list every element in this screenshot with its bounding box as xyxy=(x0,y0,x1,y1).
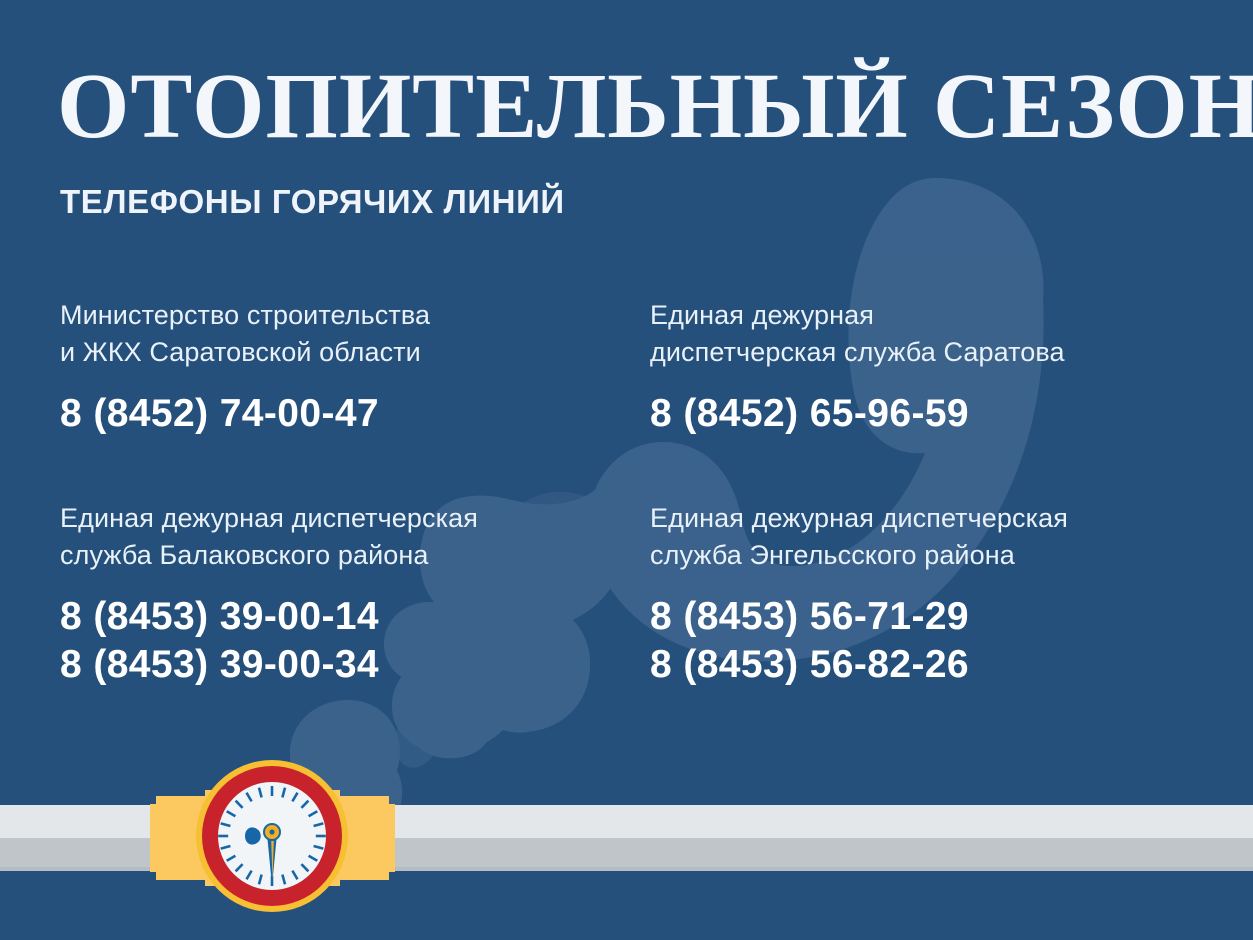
page-title: ОТОПИТЕЛЬНЫЙ СЕЗОН xyxy=(57,60,1253,153)
contact-phone-list: 8 (8452) 65-96-59 xyxy=(650,390,1240,438)
contact-org-name: Единая дежурная диспетчерская служба Бал… xyxy=(60,500,640,574)
contact-phone-list: 8 (8452) 74-00-47 xyxy=(60,390,640,438)
meter-hub-center xyxy=(269,829,274,834)
phone-number[interactable]: 8 (8453) 56-82-26 xyxy=(650,641,1240,689)
contact-org-name: Единая дежурная диспетчерская служба Сар… xyxy=(650,297,1240,371)
phone-number[interactable]: 8 (8452) 65-96-59 xyxy=(650,390,1240,438)
contact-org-line: Министерство строительства xyxy=(60,297,640,334)
page-subtitle: ТЕЛЕФОНЫ ГОРЯЧИХ ЛИНИЙ xyxy=(60,183,565,221)
contact-phone-list: 8 (8453) 56-71-29 8 (8453) 56-82-26 xyxy=(650,593,1240,689)
contact-org-line: диспетчерская служба Саратова xyxy=(650,334,1240,371)
contact-org-line: служба Балаковского района xyxy=(60,537,640,574)
contact-org-line: Единая дежурная xyxy=(650,297,1240,334)
contact-org-line: Единая дежурная диспетчерская xyxy=(60,500,640,537)
poster-canvas: ОТОПИТЕЛЬНЫЙ СЕЗОН ТЕЛЕФОНЫ ГОРЯЧИХ ЛИНИ… xyxy=(0,0,1253,940)
contact-block-ministry: Министерство строительства и ЖКХ Саратов… xyxy=(60,297,640,438)
contact-block-saratov: Единая дежурная диспетчерская служба Сар… xyxy=(650,297,1240,438)
water-meter-gauge xyxy=(150,760,395,920)
phone-number[interactable]: 8 (8452) 74-00-47 xyxy=(60,390,640,438)
phone-number[interactable]: 8 (8453) 39-00-34 xyxy=(60,641,640,689)
contact-phone-list: 8 (8453) 39-00-14 8 (8453) 39-00-34 xyxy=(60,593,640,689)
phone-number[interactable]: 8 (8453) 39-00-14 xyxy=(60,593,640,641)
phone-number[interactable]: 8 (8453) 56-71-29 xyxy=(650,593,1240,641)
contact-org-line: и ЖКХ Саратовской области xyxy=(60,334,640,371)
contact-org-name: Министерство строительства и ЖКХ Саратов… xyxy=(60,297,640,371)
contact-org-line: Единая дежурная диспетчерская xyxy=(650,500,1240,537)
contact-block-balakovo: Единая дежурная диспетчерская служба Бал… xyxy=(60,500,640,689)
contact-org-name: Единая дежурная диспетчерская служба Энг… xyxy=(650,500,1240,574)
contact-org-line: служба Энгельсского района xyxy=(650,537,1240,574)
contact-block-engels: Единая дежурная диспетчерская служба Энг… xyxy=(650,500,1240,689)
